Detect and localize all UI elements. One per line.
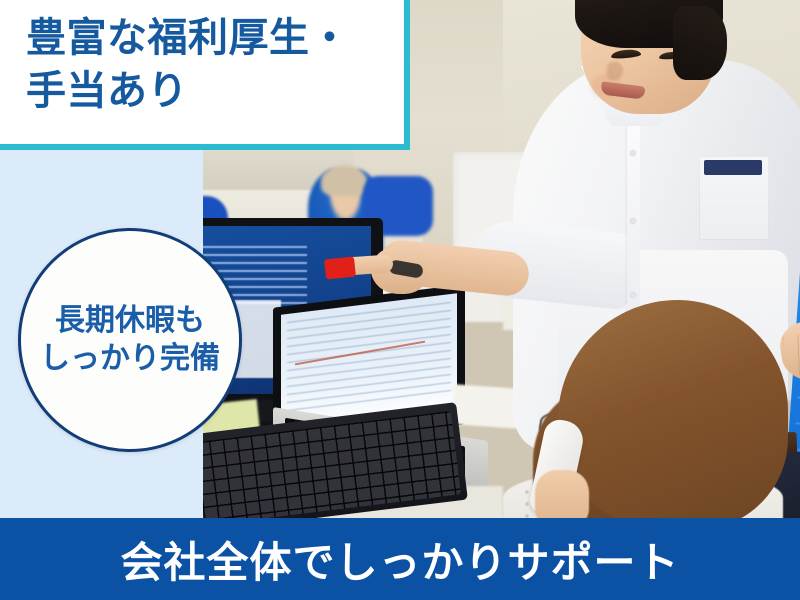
photo-shirt-button-2 [630, 218, 636, 224]
photo-shirt-button-3 [630, 292, 636, 298]
photo-red-marker [324, 256, 356, 279]
headline-text: 豊富な福利厚生・ 手当あり [26, 12, 398, 118]
headline-banner: 豊富な福利厚生・ 手当あり [0, 0, 404, 144]
banner-accent-right [404, 0, 410, 150]
badge-text: 長期休暇も しっかり完備 [40, 302, 220, 379]
photo-man-hair-side [673, 6, 727, 80]
photo-man-pocket-trim [704, 160, 762, 175]
photo-woman-hand [535, 470, 589, 518]
photo-background-person-hair [321, 166, 367, 196]
badge-circle: 長期休暇も しっかり完備 [18, 228, 242, 452]
footer-bar: 会社全体でしっかりサポート [0, 518, 800, 600]
photo-shirt-button-1 [630, 150, 636, 156]
footer-text: 会社全体でしっかりサポート [120, 529, 679, 590]
recruitment-banner: 豊富な福利厚生・ 手当あり 長期休暇も しっかり完備 会社全体でしっかりサポート [0, 0, 800, 600]
banner-accent-bottom [0, 144, 410, 150]
